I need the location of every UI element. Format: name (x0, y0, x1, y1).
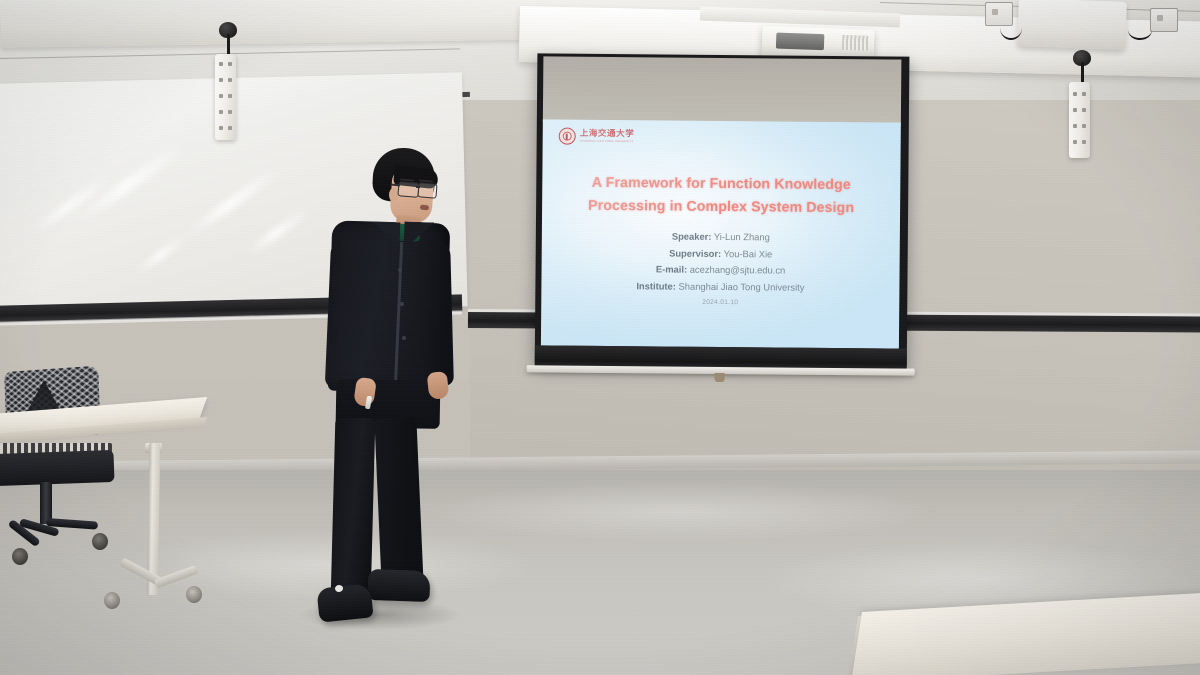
chair-caster (92, 533, 108, 550)
wall-socket-b[interactable] (1150, 8, 1178, 32)
ceiling-duct-box (1017, 0, 1127, 50)
projector-vent (842, 35, 869, 51)
presenter-right-arm (416, 240, 454, 387)
chair-caster (12, 548, 28, 565)
hanging-power-strip-right[interactable] (1069, 82, 1090, 158)
power-cable (1000, 16, 1022, 40)
slide-metadata-block: Speaker: Yi-Lun Zhang Supervisor: You-Ba… (541, 227, 900, 296)
email-value: acezhang@sjtu.edu.cn (690, 264, 786, 276)
slide-date: 2024.01.10 (541, 297, 899, 307)
table-caster (104, 592, 120, 609)
whiteboard-glare (134, 232, 191, 276)
screen-pull-tab[interactable] (715, 373, 725, 382)
presenter-right-shoe (367, 569, 430, 602)
sjtu-logo-english: SHANGHAI JIAO TONG UNIVERSITY (580, 140, 635, 143)
sjtu-logo-chinese: 上海交通大学 (580, 130, 635, 139)
whiteboard-glare (244, 205, 313, 258)
presenter-left-shoe (316, 583, 373, 622)
hanger-cord (1081, 62, 1084, 84)
office-chair-seat[interactable] (0, 450, 115, 486)
glasses-bridge (416, 186, 420, 188)
presenter-mouth (420, 205, 429, 211)
hanging-power-strip-left[interactable] (215, 54, 236, 140)
whiteboard-glare (75, 140, 188, 225)
slide-title-line-2: Processing in Complex System Design (542, 194, 900, 220)
table-caster (186, 586, 202, 603)
whiteboard-glare (183, 163, 286, 240)
institute-label: Institute: (636, 280, 676, 291)
speaker-value: Yi-Lun Zhang (714, 231, 770, 242)
supervisor-value: You-Bai Xie (724, 248, 773, 259)
projector-lens-icon (776, 33, 825, 51)
sjtu-logo: 上海交通大学 SHANGHAI JIAO TONG UNIVERSITY (559, 128, 635, 146)
supervisor-label: Supervisor: (669, 247, 721, 258)
glasses-right-lens-icon (417, 182, 437, 199)
sjtu-seal-icon (559, 128, 576, 145)
presenter-ear (389, 188, 398, 202)
power-cable (1128, 20, 1152, 40)
presenter-right-leg (374, 417, 423, 587)
jacket-button (402, 336, 406, 340)
institute-value: Shanghai Jiao Tong University (679, 280, 805, 292)
hanger-cord (227, 34, 230, 56)
jacket-button (400, 302, 404, 306)
speaker-label: Speaker: (672, 231, 712, 242)
slide-meta-row: Institute: Shanghai Jiao Tong University (541, 277, 899, 297)
presenter-right-hand (427, 371, 450, 400)
lecture-room-photo: 上海交通大学 SHANGHAI JIAO TONG UNIVERSITY A F… (0, 0, 1200, 675)
email-label: E-mail: (656, 263, 687, 274)
projection-screen: 上海交通大学 SHANGHAI JIAO TONG UNIVERSITY A F… (535, 53, 910, 386)
jacket-button (398, 268, 402, 272)
slide-title-line-1: A Framework for Function Knowledge (542, 171, 900, 197)
slide-title: A Framework for Function Knowledge Proce… (542, 171, 900, 220)
presentation-slide: 上海交通大学 SHANGHAI JIAO TONG UNIVERSITY A F… (541, 119, 901, 348)
glasses-left-lens-icon (397, 181, 419, 198)
screen-unlit-area (543, 56, 902, 125)
